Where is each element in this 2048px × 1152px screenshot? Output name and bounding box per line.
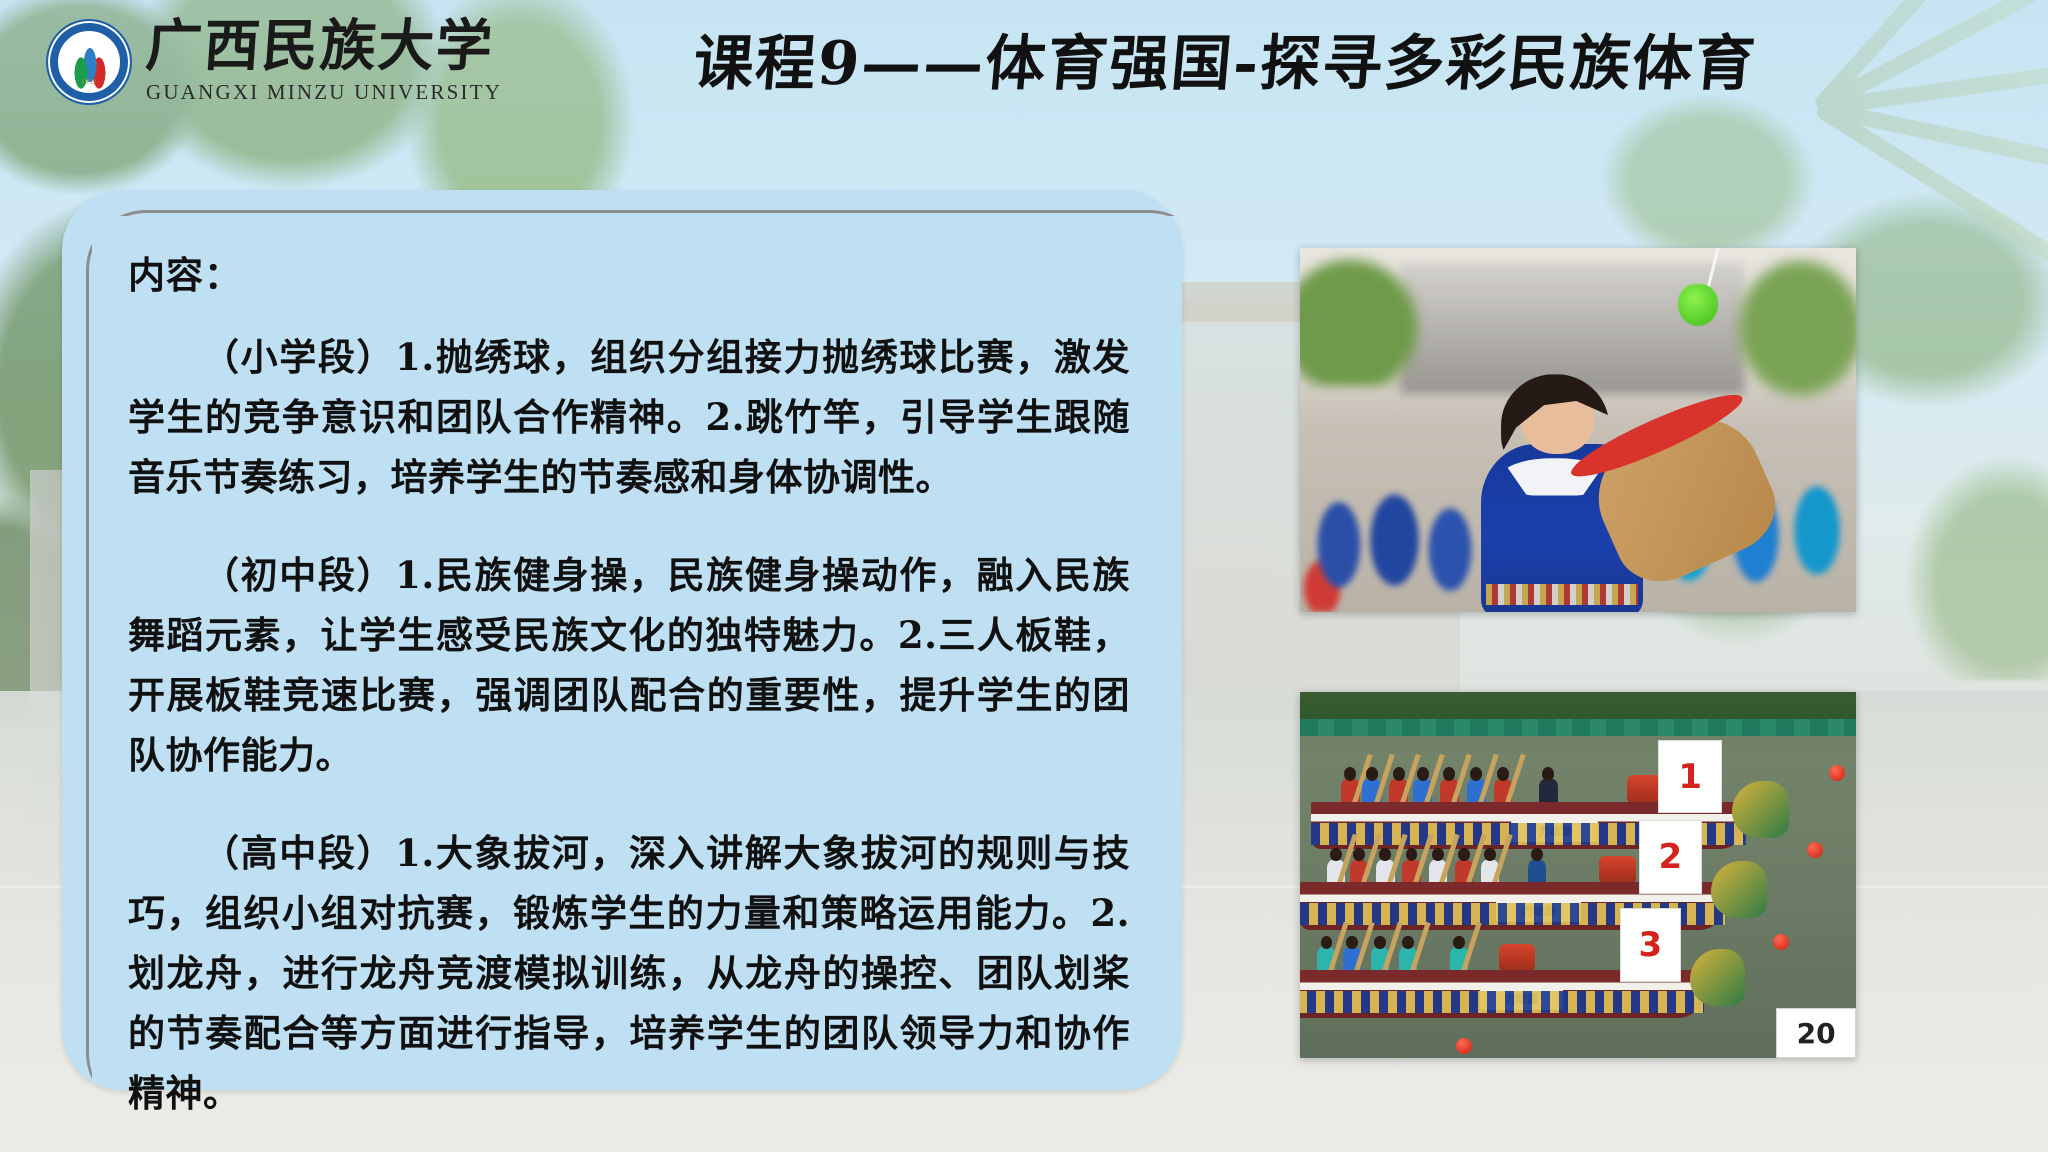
buoy-marker <box>1456 1038 1472 1054</box>
dragon-head-icon <box>1690 949 1745 1006</box>
content-paragraph-senior: （高中段）1.大象拔河，深入讲解大象拔河的规则与技巧，组织小组对抗赛，锻炼学生的… <box>128 824 1130 1124</box>
university-name-en: GUANGXI MINZU UNIVERSITY <box>146 80 502 105</box>
content-paragraph-junior: （初中段）1.民族健身操，民族健身操动作，融入民族舞蹈元素，让学生感受民族文化的… <box>128 546 1130 786</box>
slide-root: 1952 广西民族大学 GUANGXI MINZU UNIVERSITY 课程9… <box>0 0 2048 1152</box>
university-logo-lockup: 1952 广西民族大学 GUANGXI MINZU UNIVERSITY <box>46 18 502 105</box>
buoy-marker <box>1807 842 1823 858</box>
university-seal-icon: 1952 <box>46 19 132 105</box>
photo-dragonboat-bank <box>1300 692 1856 736</box>
seal-year: 1952 <box>58 78 120 86</box>
dragon-boat-lane-3-brand: 力动源 <box>1480 989 1563 1010</box>
buoy-marker <box>1829 765 1845 781</box>
content-heading: 内容： <box>128 252 1130 298</box>
dragon-head-icon <box>1711 861 1767 918</box>
photo-dragonboat-corner-badge: 20 <box>1776 1008 1856 1058</box>
dragon-boat-lane-3: 力动源 3 <box>1300 970 1745 1018</box>
university-name-cn: 广西民族大学 <box>144 18 504 74</box>
dragon-boat-lane-3-drum <box>1499 944 1535 973</box>
buoy-marker <box>1773 934 1789 950</box>
dragon-head-icon <box>1732 781 1789 838</box>
dragon-boat-lane-2-brand: 力动源 <box>1496 901 1581 922</box>
photo-dragon-boat-race: 力动源 1 力动源 2 <box>1300 692 1856 1058</box>
photo-xiuqiu-tree-left <box>1300 255 1422 386</box>
photo-embroidered-ball-throwing <box>1300 248 1856 612</box>
dragon-boat-lane-1-rowers <box>1330 761 1598 807</box>
dragon-boat-lane-1-number: 1 <box>1658 740 1722 813</box>
page-title: 课程9——体育强国-探寻多彩民族体育 <box>556 18 1894 110</box>
slide-header: 1952 广西民族大学 GUANGXI MINZU UNIVERSITY 课程9… <box>0 0 2048 128</box>
dragon-boat-lane-2-rowers <box>1319 841 1581 887</box>
content-paragraph-primary: （小学段）1.抛绣球，组织分组接力抛绣球比赛，激发学生的竞争意识和团队合作精神。… <box>128 328 1130 508</box>
university-name-block: 广西民族大学 GUANGXI MINZU UNIVERSITY <box>146 18 502 105</box>
content-panel-body: 内容： （小学段）1.抛绣球，组织分组接力抛绣球比赛，激发学生的竞争意识和团队合… <box>62 190 1182 1090</box>
dragon-boat-lane-2-number: 2 <box>1639 820 1702 893</box>
dragon-boat-lane-1-brand: 力动源 <box>1511 821 1598 842</box>
dragon-boat-lane-3-number: 3 <box>1620 908 1681 981</box>
dragon-boat-lane-2-drum <box>1599 856 1636 885</box>
